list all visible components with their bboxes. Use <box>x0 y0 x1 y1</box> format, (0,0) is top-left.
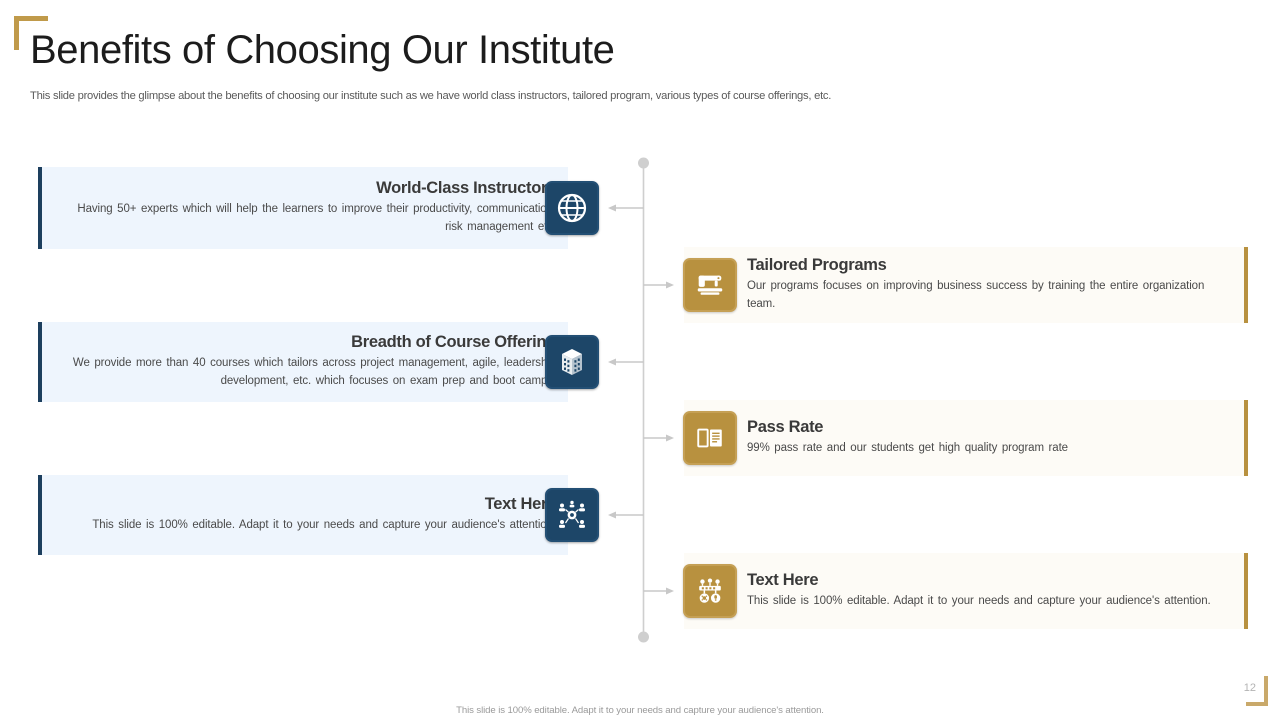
page-subtitle: This slide provides the glimpse about th… <box>30 90 831 102</box>
card-description: Our programs focuses on improving busine… <box>747 278 1230 314</box>
org-chart-icon-glyph <box>694 575 726 607</box>
benefit-card-left-1[interactable]: World-Class Instructors Having 50+ exper… <box>38 167 568 249</box>
benefit-card-right-3[interactable]: Text Here This slide is 100% editable. A… <box>684 553 1248 629</box>
timeline-bottom-dot <box>638 632 649 643</box>
timeline-top-dot <box>638 158 649 169</box>
card-title: Text Here <box>56 495 556 514</box>
card-description: Having 50+ experts which will help the l… <box>56 201 556 237</box>
card-title: Pass Rate <box>747 418 1230 437</box>
card-text-block: Tailored Programs Our programs focuses o… <box>737 248 1244 322</box>
building-icon-glyph <box>555 345 589 379</box>
building-icon[interactable] <box>545 335 599 389</box>
card-text-block: World-Class Instructors Having 50+ exper… <box>42 171 568 245</box>
benefit-card-right-1[interactable]: Tailored Programs Our programs focuses o… <box>684 247 1248 323</box>
card-title: Breadth of Course Offering <box>56 333 556 352</box>
card-text-block: Text Here This slide is 100% editable. A… <box>42 487 568 543</box>
document-presentation-icon[interactable] <box>683 411 737 465</box>
benefit-card-left-3[interactable]: Text Here This slide is 100% editable. A… <box>38 475 568 555</box>
benefit-card-right-2[interactable]: Pass Rate 99% pass rate and our students… <box>684 400 1248 476</box>
card-text-block: Text Here This slide is 100% editable. A… <box>737 563 1244 619</box>
card-description: 99% pass rate and our students get high … <box>747 440 1230 458</box>
card-description: This slide is 100% editable. Adapt it to… <box>56 517 556 535</box>
org-chart-icon[interactable] <box>683 564 737 618</box>
card-text-block: Breadth of Course Offering We provide mo… <box>42 325 568 399</box>
page-number: 12 <box>1244 682 1256 694</box>
card-description: We provide more than 40 courses which ta… <box>56 355 556 391</box>
card-title: Text Here <box>747 571 1230 590</box>
sewing-machine-icon[interactable] <box>683 258 737 312</box>
card-text-block: Pass Rate 99% pass rate and our students… <box>737 410 1244 466</box>
footer-note: This slide is 100% editable. Adapt it to… <box>0 705 1280 716</box>
globe-icon-glyph <box>555 191 589 225</box>
globe-icon[interactable] <box>545 181 599 235</box>
sewing-machine-icon-glyph <box>694 269 726 301</box>
card-description: This slide is 100% editable. Adapt it to… <box>747 593 1230 611</box>
card-title: World-Class Instructors <box>56 179 556 198</box>
team-network-icon[interactable] <box>545 488 599 542</box>
benefit-card-left-2[interactable]: Breadth of Course Offering We provide mo… <box>38 322 568 402</box>
team-network-icon-glyph <box>555 498 589 532</box>
page-title: Benefits of Choosing Our Institute <box>30 28 615 72</box>
card-title: Tailored Programs <box>747 256 1230 275</box>
document-presentation-icon-glyph <box>694 422 726 454</box>
